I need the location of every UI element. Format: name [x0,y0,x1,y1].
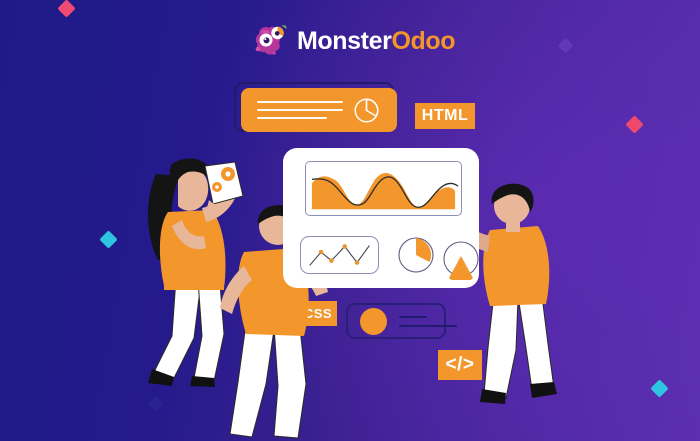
zigzag-line-chart-svg [301,237,378,273]
logo-word-odoo: Odoo [391,27,455,55]
profile-card-lines [399,316,457,327]
diamond-pink-top-left [57,0,75,18]
orange-summary-card[interactable] [241,88,397,132]
wave-area-chart-svg [306,162,461,215]
pie-chart-right[interactable] [440,238,482,280]
monster-mascot-icon [252,24,288,58]
logo-word-monster: Monster [297,27,391,55]
diamond-purple-bottom-left [148,396,164,412]
zigzag-line-chart[interactable] [300,236,379,274]
pie-chart-left[interactable] [395,234,437,276]
badge-html[interactable]: HTML [415,103,475,129]
diamond-purple-top-right [558,38,574,54]
banner-canvas: MonsterOdoo HTML CSS </> [0,0,700,441]
diamond-cyan-bottom-right [650,379,668,397]
pie-chart-icon [353,97,380,124]
diamond-cyan-left [99,230,117,248]
orange-circle-avatar [360,308,387,335]
wave-area-chart[interactable] [305,161,462,216]
badge-html-label: HTML [422,107,468,125]
brand-logo[interactable]: MonsterOdoo [252,24,455,58]
profile-summary-card[interactable] [346,303,446,339]
logo-wordmark: MonsterOdoo [297,29,455,54]
summary-card-lines [257,101,343,119]
diamond-pink-right [625,115,643,133]
